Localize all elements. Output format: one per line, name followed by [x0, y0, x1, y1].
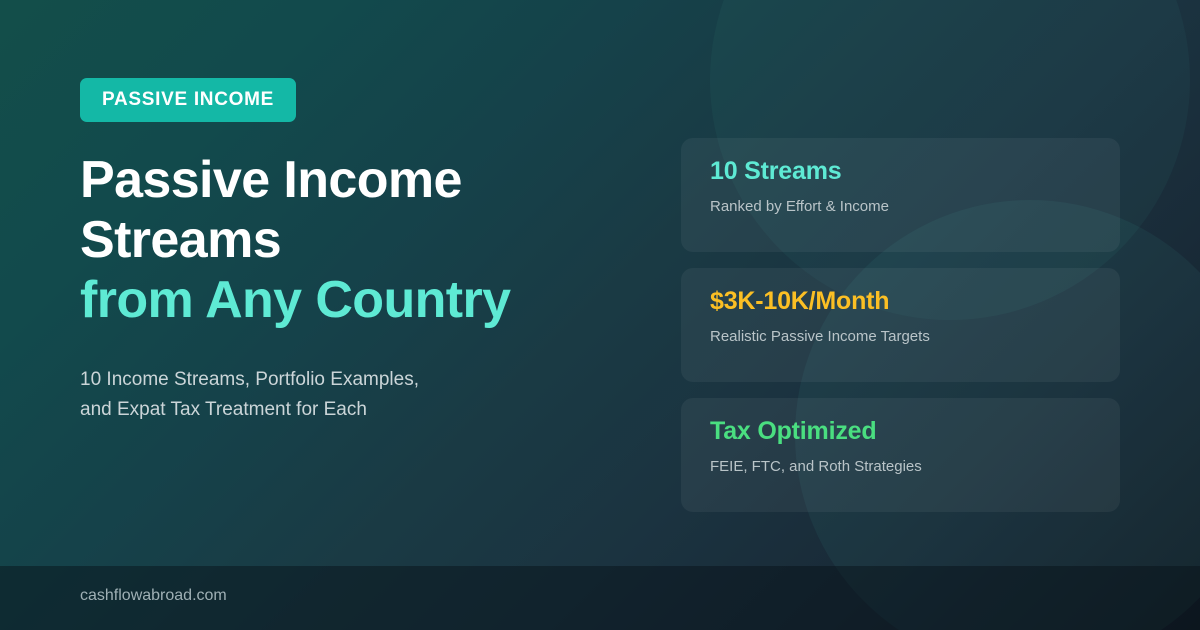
category-badge: PASSIVE INCOME	[80, 78, 296, 122]
highlight-card-subtitle: Realistic Passive Income Targets	[710, 327, 1091, 347]
highlight-card-streams: 10 Streams Ranked by Effort & Income	[681, 138, 1120, 252]
footer-site-url: cashflowabroad.com	[80, 588, 227, 604]
highlight-card-subtitle: Ranked by Effort & Income	[710, 197, 1091, 217]
footer-bar: cashflowabroad.com	[0, 566, 1200, 630]
highlight-card-title: $3K-10K/Month	[710, 288, 1091, 316]
hero-left-column: PASSIVE INCOME Passive Income Streams fr…	[80, 78, 650, 425]
hero-banner: PASSIVE INCOME Passive Income Streams fr…	[0, 0, 1200, 630]
page-title: Passive Income Streams from Any Country	[80, 151, 650, 330]
highlight-card-title: 10 Streams	[710, 158, 1091, 186]
page-subtitle-line-2: and Expat Tax Treatment for Each	[80, 395, 650, 425]
page-title-line-2: from Any Country	[80, 271, 650, 331]
highlight-card-subtitle: FEIE, FTC, and Roth Strategies	[710, 457, 1091, 477]
page-title-line-1: Passive Income Streams	[80, 151, 650, 271]
page-subtitle: 10 Income Streams, Portfolio Examples, a…	[80, 365, 650, 425]
page-subtitle-line-1: 10 Income Streams, Portfolio Examples,	[80, 365, 650, 395]
highlight-card-income: $3K-10K/Month Realistic Passive Income T…	[681, 268, 1120, 382]
highlight-card-list: 10 Streams Ranked by Effort & Income $3K…	[681, 138, 1120, 528]
highlight-card-tax: Tax Optimized FEIE, FTC, and Roth Strate…	[681, 398, 1120, 512]
highlight-card-title: Tax Optimized	[710, 418, 1091, 446]
